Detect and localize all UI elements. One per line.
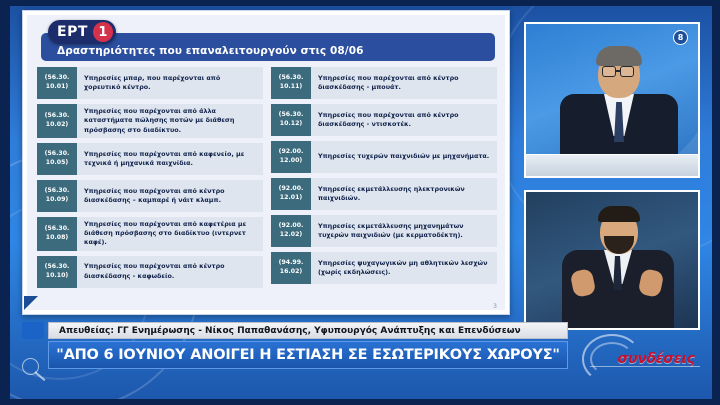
activity-code: (56.30.10.11) [271,67,311,99]
activity-code: (92.00.12.00) [271,141,311,173]
corner-triangle-decoration [24,296,38,310]
activity-description: Υπηρεσίες που παρέχονται από κέντρο διασ… [77,256,263,288]
activity-description: Υπηρεσίες εκμετάλλευσης μηχανημάτων τυχε… [311,215,497,247]
activity-code: (56.30.10.05) [37,143,77,175]
frame-bar-right [712,0,720,405]
slide-left-column: (56.30.10.01)Υπηρεσίες μπαρ, που παρέχον… [37,67,263,304]
activity-code-line1: (94.99. [279,259,304,268]
lower-third-headline: "ΑΠΟ 6 ΙΟΥΝΙΟΥ ΑΝΟΙΓΕΙ Η ΕΣΤΙΑΣΗ ΣΕ ΕΣΩΤ… [56,347,560,363]
activity-code-line2: 10.08) [46,234,68,243]
video-panel-speaker: 8 [524,22,700,178]
table-row: (56.30.10.02)Υπηρεσίες που παρέχονται απ… [37,104,263,138]
ert-channel-logo: EPT 1 [48,20,116,44]
activity-code-line1: (92.00. [279,185,304,194]
frame-bar-bottom [0,399,720,405]
table-row: (56.30.10.09)Υπηρεσίες που παρέχονται απ… [37,180,263,212]
table-row: (92.00.12.01)Υπηρεσίες εκμετάλλευσης ηλε… [271,178,497,210]
table-row: (56.30.10.05)Υπηρεσίες που παρέχονται απ… [37,143,263,175]
activity-code-line2: 10.02) [46,121,68,130]
glasses-icon [620,66,634,77]
slide-columns: (56.30.10.01)Υπηρεσίες μπαρ, που παρέχον… [37,67,497,304]
table-row: (94.99.16.02)Υπηρεσίες ψυχαγωγικών μη αθ… [271,252,497,284]
ert-logo-number: 1 [93,22,113,42]
activity-code: (56.30.10.01) [37,67,77,99]
activity-description: Υπηρεσίες που παρέχονται από καφετέρια μ… [77,217,263,251]
lower-third-headline-bar: "ΑΠΟ 6 ΙΟΥΝΙΟΥ ΑΝΟΙΓΕΙ Η ΕΣΤΙΑΣΗ ΣΕ ΕΣΩΤ… [48,341,568,369]
table-row: (92.00.12.00)Υπηρεσίες τυχερών παιχνιδιώ… [271,141,497,173]
activity-description: Υπηρεσίες που παρέχονται από κέντρο διασ… [311,104,497,136]
table-row: (56.30.10.10)Υπηρεσίες που παρέχονται απ… [37,256,263,288]
activity-code: (56.30.10.09) [37,180,77,212]
program-logo-text: συνδέσεις [617,351,694,367]
activity-code-line2: 10.11) [280,83,302,92]
activity-code-line1: (56.30. [279,111,304,120]
presentation-slide: EPT 1 Δραστηριότητες που επαναλειτουργού… [22,10,510,315]
activity-code: (56.30.10.02) [37,104,77,138]
activity-description: Υπηρεσίες που παρέχονται από άλλα καταστ… [77,104,263,138]
glasses-icon [602,66,616,77]
video-panel-sign-interpreter [524,190,700,330]
activity-code: (56.30.10.12) [271,104,311,136]
activity-description: Υπηρεσίες που παρέχονται από κέντρο διασ… [311,67,497,99]
table-row: (56.30.10.01)Υπηρεσίες μπαρ, που παρέχον… [37,67,263,99]
frame-bar-top [0,0,720,6]
activity-description: Υπηρεσίες ψυχαγωγικών μη αθλητικών λεσχώ… [311,252,497,284]
activity-code-line1: (56.30. [279,74,304,83]
magnifier-handle [34,371,45,381]
lower-third-subtitle: Απευθείας: ΓΓ Ενημέρωσης - Νίκος Παπαθαν… [59,326,521,336]
activity-code: (92.00.12.02) [271,215,311,247]
lower-third-accent-block [22,322,44,339]
table-row: (56.30.10.11)Υπηρεσίες που παρέχονται απ… [271,67,497,99]
activity-code-line1: (56.30. [45,150,70,159]
activity-description: Υπηρεσίες εκμετάλλευσης ηλεκτρονικών παι… [311,178,497,210]
activity-code-line2: 10.05) [46,159,68,168]
slide-page-number: 3 [493,303,497,310]
activity-code-line1: (56.30. [45,263,70,272]
lower-third-subtitle-bar: Απευθείας: ΓΓ Ενημέρωσης - Νίκος Παπαθαν… [48,322,568,339]
activity-code-line2: 16.02) [280,268,302,277]
activity-code: (94.99.16.02) [271,252,311,284]
activity-description: Υπηρεσίες τυχερών παιχνιδιών με μηχανήμα… [311,141,497,173]
logo-underline [590,366,700,367]
ert-logo-text: EPT [57,24,88,40]
activity-description: Υπηρεσίες που παρέχονται από καφενείο, μ… [77,143,263,175]
activity-code-line2: 10.10) [46,272,68,281]
activity-description: Υπηρεσίες μπαρ, που παρέχονται από χορευ… [77,67,263,99]
activity-code-line2: 10.09) [46,196,68,205]
activity-code-line1: (56.30. [45,225,70,234]
broadcast-screen: EPT 1 Δραστηριότητες που επαναλειτουργού… [0,0,720,405]
activity-code-line2: 12.02) [280,231,302,240]
speaker-podium [526,154,698,176]
activity-code: (56.30.10.10) [37,256,77,288]
slide-title: Δραστηριότητες που επαναλειτουργούν στις… [57,45,364,57]
table-row: (92.00.12.02)Υπηρεσίες εκμετάλλευσης μηχ… [271,215,497,247]
activity-code-line1: (92.00. [279,222,304,231]
table-row: (56.30.10.12)Υπηρεσίες που παρέχονται απ… [271,104,497,136]
activity-code: (56.30.10.08) [37,217,77,251]
activity-description: Υπηρεσίες που παρέχονται από κέντρο διασ… [77,180,263,212]
activity-code-line2: 10.01) [46,83,68,92]
activity-code-line2: 10.12) [280,120,302,129]
table-row: (56.30.10.08)Υπηρεσίες που παρέχονται απ… [37,217,263,251]
magnifier-icon [22,358,48,384]
program-logo: συνδέσεις [580,332,706,386]
activity-code-line1: (56.30. [45,112,70,121]
channel-badge-icon: 8 [673,30,688,45]
speaker-hair [596,46,642,66]
slide-right-column: (56.30.10.11)Υπηρεσίες που παρέχονται απ… [271,67,497,304]
activity-code-line2: 12.01) [280,194,302,203]
activity-code-line2: 12.00) [280,157,302,166]
activity-code-line1: (56.30. [45,187,70,196]
interpreter-hair [598,206,640,222]
glasses-bridge [616,70,621,72]
frame-bar-left [0,0,10,405]
activity-code: (92.00.12.01) [271,178,311,210]
activity-code-line1: (92.00. [279,148,304,157]
activity-code-line1: (56.30. [45,74,70,83]
